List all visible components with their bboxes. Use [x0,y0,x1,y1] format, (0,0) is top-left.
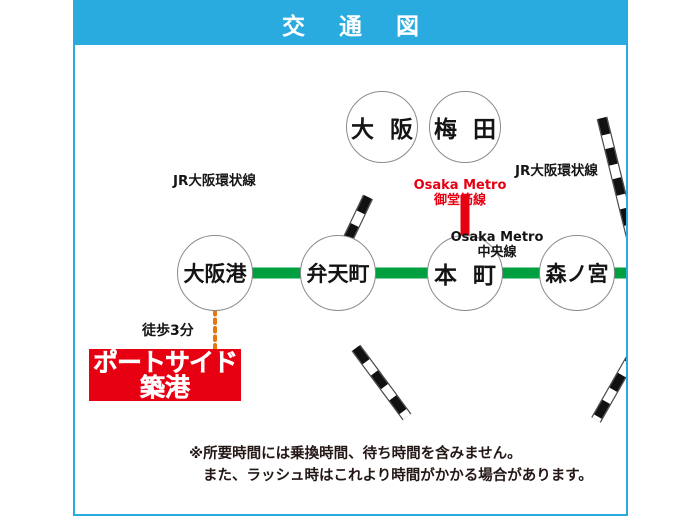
destination-badge[interactable]: ポートサイド 築港 [89,349,241,401]
transit-map-panel: 交 通 図 [73,0,628,516]
line-label-midosuji-jp: 御堂筋線 [400,194,520,209]
panel-header: 交 通 図 [75,2,626,45]
diagram-canvas: 大 阪 梅 田 大阪港 弁天町 本 町 森ノ宮 JR大阪環状線 JR大阪環状線 … [75,45,626,514]
station-label-morinomiya: 森ノ宮 [546,258,609,288]
footnote-line-1: ※所要時間には乗換時間、待ち時間を含みません。 [189,446,522,462]
station-label-osakako: 大阪港 [184,258,247,288]
line-label-midosuji: Osaka Metro 御堂筋線 [400,179,520,209]
station-bentencho[interactable]: 弁天町 [300,235,376,311]
destination-line-2: 築港 [140,375,190,401]
transit-map-page: 交 通 図 [0,0,700,525]
line-label-midosuji-en: Osaka Metro [400,179,520,194]
station-label-honmachi: 本 町 [430,256,500,290]
line-label-jr-loop-right: JR大阪環状線 [515,164,598,180]
line-label-chuo-en: Osaka Metro [437,231,557,246]
line-label-chuo-jp: 中央線 [437,246,557,261]
jr-loop-line-left-lower [356,348,407,417]
station-osaka[interactable]: 大 阪 [346,91,418,163]
destination-line-1: ポートサイド [93,350,237,376]
station-label-bentencho: 弁天町 [307,258,370,288]
station-umeda[interactable]: 梅 田 [429,91,501,163]
footnote: ※所要時間には乗換時間、待ち時間を含みません。 また、ラッシュ時はこれより時間が… [189,443,593,488]
jr-loop-line-right-lower [596,348,626,420]
station-label-osaka: 大 阪 [347,110,417,144]
footnote-line-2: また、ラッシュ時はこれより時間がかかる場合があります。 [189,465,593,487]
station-label-umeda: 梅 田 [430,110,500,144]
line-label-chuo: Osaka Metro 中央線 [437,231,557,261]
line-label-jr-loop-left: JR大阪環状線 [173,174,256,190]
station-osakako[interactable]: 大阪港 [177,235,253,311]
page-title: 交 通 図 [269,7,432,41]
walk-time-label: 徒歩3分 [142,320,194,340]
